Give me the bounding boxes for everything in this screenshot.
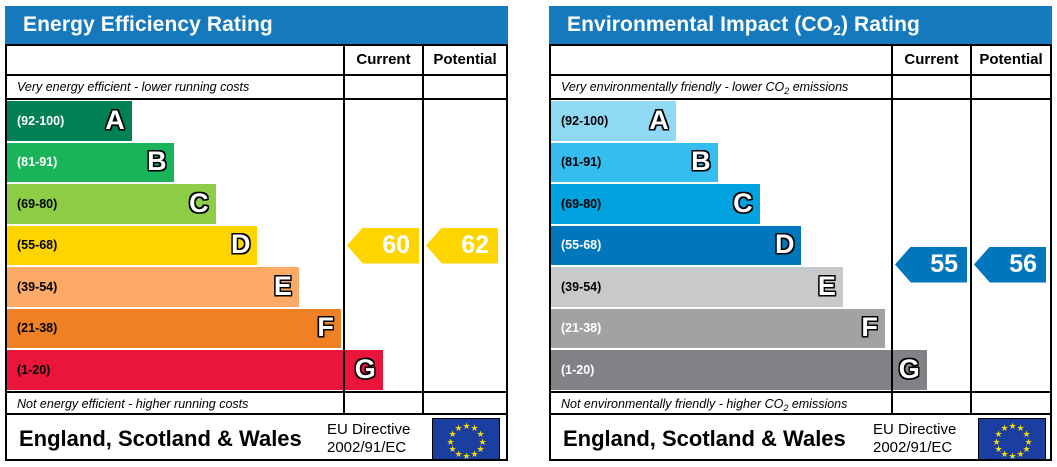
current-rating-value: 55 [930,250,958,279]
band-bar-d: (55-68) D [7,226,257,266]
band-range-f: (21-38) [17,321,57,335]
potential-rating-arrow: 62 [426,228,498,264]
band-letter-a: A [105,107,125,134]
band-bar-e: (39-54) E [7,267,299,307]
footer-country-label: England, Scotland & Wales [563,426,846,452]
band-range-e: (39-54) [17,280,57,294]
band-row-f: (21-38) F [551,308,1050,350]
footer-eu-directive-line2: 2002/91/EC [873,439,956,457]
band-bar-a: (92-100) A [7,101,132,141]
band-bar-c: (69-80) C [551,184,760,224]
band-letter-e: E [818,273,836,300]
current-rating-value: 60 [382,231,410,260]
column-separator-potential [422,100,424,391]
caption-not-efficient: Not energy efficient - higher running co… [17,393,248,415]
caption-not-friendly-tail: emissions [788,397,847,411]
column-separator-current [343,393,345,413]
potential-rating-value: 62 [461,231,489,260]
band-letter-b: B [147,148,167,175]
band-bar-f: (21-38) F [7,309,341,349]
column-header-potential: Potential [422,46,506,74]
band-letter-d: D [775,231,795,258]
environmental-impact-rating-chart: Environmental Impact (CO2) Rating Curren… [549,6,1052,461]
band-range-c: (69-80) [561,197,601,211]
column-separator-potential [422,393,424,413]
column-separator-current [891,76,893,98]
column-separator-potential [970,393,972,413]
environmental-impact-title-bar: Environmental Impact (CO2) Rating [549,6,1052,44]
band-row-b: (81-91) B [551,142,1050,184]
band-bar-e: (39-54) E [551,267,843,307]
energy-band-list: (92-100) A (81-91) B (69-80) C [7,100,506,391]
band-row-e: (39-54) E [7,266,506,308]
environmental-band-list: (92-100) A (81-91) B (69-80) C [551,100,1050,391]
band-letter-e: E [274,273,292,300]
band-letter-f: F [861,314,878,341]
footer-eu-directive-line1: EU Directive [327,421,410,439]
band-row-d: (55-68) D 55 56 [551,225,1050,267]
footer-eu-directive-line2: 2002/91/EC [327,439,410,457]
column-header-current: Current [891,46,970,74]
current-rating-arrow: 60 [347,228,419,264]
footer-row: England, Scotland & Wales EU Directive 2… [7,415,506,463]
band-letter-c: C [189,190,209,217]
band-letter-a: A [649,107,669,134]
caption-very-friendly: Very environmentally friendly - lower CO… [561,76,848,99]
band-row-a: (92-100) A [7,100,506,142]
band-bar-f: (21-38) F [551,309,885,349]
energy-efficiency-rating-chart: Energy Efficiency Rating Current Potenti… [5,6,508,461]
band-row-g: (1-20) G [7,349,506,391]
column-separator-potential [970,100,972,391]
band-row-c: (69-80) C [7,183,506,225]
page-title: Energy Efficiency Rating [23,13,273,36]
footer-eu-directive: EU Directive 2002/91/EC [327,421,410,457]
caption-not-friendly-text: Not environmentally friendly - higher CO [561,397,783,411]
band-letter-b: B [691,148,711,175]
band-bar-c: (69-80) C [7,184,216,224]
footer-eu-directive-line1: EU Directive [873,421,956,439]
band-range-b: (81-91) [17,155,57,169]
band-bar-a: (92-100) A [551,101,676,141]
band-row-a: (92-100) A [551,100,1050,142]
column-separator-current [343,76,345,98]
band-letter-f: F [317,314,334,341]
column-header-row: Current Potential [551,46,1050,76]
top-caption-row: Very environmentally friendly - lower CO… [551,76,1050,100]
band-row-c: (69-80) C [551,183,1050,225]
band-letter-g: G [899,356,920,383]
band-bar-d: (55-68) D [551,226,801,266]
band-range-e: (39-54) [561,280,601,294]
top-caption-row: Very energy efficient - lower running co… [7,76,506,100]
caption-very-friendly-subscript: 2 [784,86,789,96]
band-row-g: (1-20) G [551,349,1050,391]
potential-rating-value: 56 [1009,250,1037,279]
band-range-g: (1-20) [561,363,594,377]
environmental-impact-grid: Current Potential Very environmentally f… [549,44,1052,461]
column-header-row: Current Potential [7,46,506,76]
band-row-e: (39-54) E [551,266,1050,308]
footer-row: England, Scotland & Wales EU Directive 2… [551,415,1050,463]
band-row-b: (81-91) B [7,142,506,184]
band-range-d: (55-68) [17,238,57,252]
eu-flag-icon [432,418,500,460]
caption-not-friendly: Not environmentally friendly - higher CO… [561,393,847,416]
band-range-f: (21-38) [561,321,601,335]
caption-very-friendly-tail: emissions [789,80,848,94]
energy-efficiency-title-bar: Energy Efficiency Rating [5,6,508,44]
column-separator-current [343,100,345,391]
column-separator-potential [422,76,424,98]
band-range-a: (92-100) [561,114,608,128]
band-range-a: (92-100) [17,114,64,128]
page-title: Environmental Impact (CO [567,13,833,36]
band-letter-c: C [733,190,753,217]
bottom-caption-row: Not energy efficient - higher running co… [7,391,506,415]
band-bar-b: (81-91) B [551,143,718,183]
column-header-potential: Potential [970,46,1050,74]
page-title-subscript: 2 [833,22,841,38]
band-bar-g: (1-20) G [551,350,927,390]
band-row-d: (55-68) D 60 62 [7,225,506,267]
caption-very-friendly-text: Very environmentally friendly - lower CO [561,80,784,94]
band-bar-b: (81-91) B [7,143,174,183]
band-range-d: (55-68) [561,238,601,252]
caption-not-friendly-subscript: 2 [783,403,788,413]
band-row-f: (21-38) F [7,308,506,350]
column-separator-current [891,100,893,391]
bottom-caption-row: Not environmentally friendly - higher CO… [551,391,1050,415]
band-letter-d: D [231,231,251,258]
band-range-c: (69-80) [17,197,57,211]
band-range-g: (1-20) [17,363,50,377]
band-bar-g: (1-20) G [7,350,383,390]
column-header-current: Current [343,46,422,74]
band-letter-g: G [355,356,376,383]
epc-certificate-charts: Energy Efficiency Rating Current Potenti… [0,0,1057,467]
eu-flag-icon [978,418,1046,460]
page-title-tail: ) Rating [841,13,920,36]
column-separator-potential [970,76,972,98]
column-separator-current [891,393,893,413]
band-range-b: (81-91) [561,155,601,169]
footer-eu-directive: EU Directive 2002/91/EC [873,421,956,457]
energy-efficiency-grid: Current Potential Very energy efficient … [5,44,508,461]
caption-very-efficient: Very energy efficient - lower running co… [17,76,249,98]
footer-country-label: England, Scotland & Wales [19,426,302,452]
